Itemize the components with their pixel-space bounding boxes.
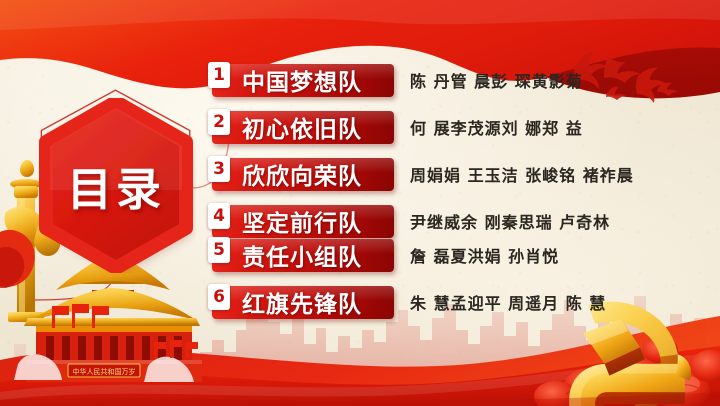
team-number-badge: 1 (208, 62, 230, 88)
team-name-label: 红旗先锋队 (242, 285, 362, 319)
team-button[interactable]: 5 责任小组队 (212, 239, 394, 272)
team-name-label: 中国梦想队 (242, 63, 362, 97)
team-number-badge: 6 (208, 284, 230, 310)
team-list: 1 中国梦想队 陈 丹管 晨彭 琛黄影菊 2 初心依旧队 何 展李茂源刘 娜郑 … (0, 0, 720, 406)
team-button[interactable]: 2 初心依旧队 (212, 111, 394, 144)
team-number-badge: 3 (208, 156, 230, 182)
team-button[interactable]: 3 欣欣向荣队 (212, 158, 394, 191)
team-members-label: 朱 慧孟迎平 周遥月 陈 慧 (410, 290, 606, 314)
team-name-label: 欣欣向荣队 (242, 157, 362, 191)
team-row[interactable]: 1 中国梦想队 陈 丹管 晨彭 琛黄影菊 (212, 62, 583, 98)
team-row[interactable]: 5 责任小组队 詹 磊夏洪娟 孙肖悦 (212, 237, 559, 273)
team-row[interactable]: 3 欣欣向荣队 周娟娟 王玉洁 张峻铭 褚祚晨 (212, 156, 634, 192)
team-button[interactable]: 4 坚定前行队 (212, 205, 394, 238)
team-row[interactable]: 4 坚定前行队 尹继威余 刚秦思瑞 卢奇林 (212, 203, 610, 239)
team-name-label: 初心依旧队 (242, 110, 362, 144)
team-members-label: 尹继威余 刚秦思瑞 卢奇林 (410, 209, 610, 233)
team-members-label: 陈 丹管 晨彭 琛黄影菊 (410, 68, 583, 92)
team-name-label: 坚定前行队 (242, 204, 362, 238)
team-number-badge: 5 (208, 237, 230, 263)
team-button[interactable]: 6 红旗先锋队 (212, 286, 394, 319)
team-button[interactable]: 1 中国梦想队 (212, 64, 394, 97)
team-name-label: 责任小组队 (242, 238, 362, 272)
team-members-label: 周娟娟 王玉洁 张峻铭 褚祚晨 (410, 162, 634, 186)
team-members-label: 詹 磊夏洪娟 孙肖悦 (410, 243, 559, 267)
team-row[interactable]: 6 红旗先锋队 朱 慧孟迎平 周遥月 陈 慧 (212, 284, 606, 320)
team-row[interactable]: 2 初心依旧队 何 展李茂源刘 娜郑 益 (212, 109, 583, 145)
team-members-label: 何 展李茂源刘 娜郑 益 (410, 115, 583, 139)
slide-canvas: 中华人民共和国万岁 (0, 0, 720, 406)
team-number-badge: 4 (208, 203, 230, 229)
team-number-badge: 2 (208, 109, 230, 135)
